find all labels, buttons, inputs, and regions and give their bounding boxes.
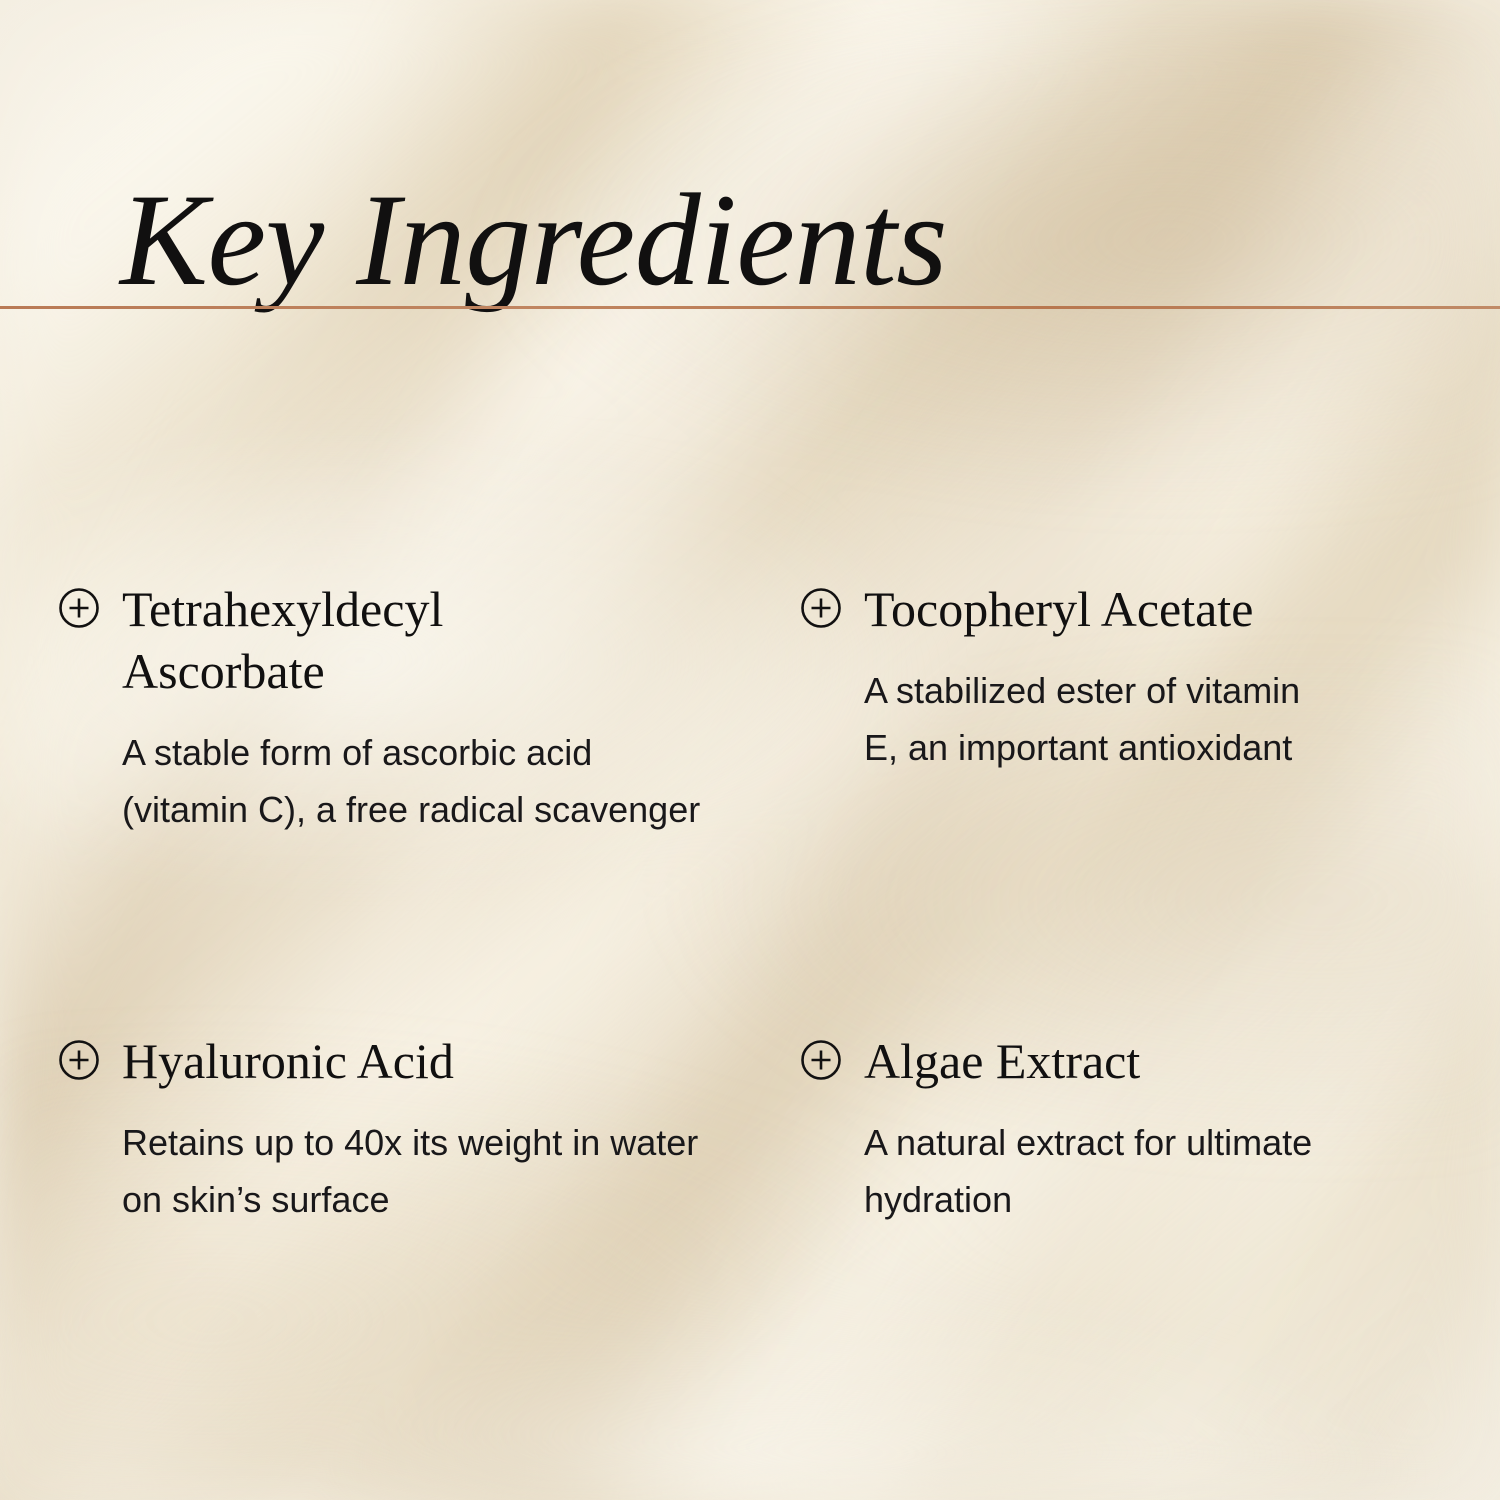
ingredient-description: A stable form of ascorbic acid (vitamin …: [122, 724, 712, 838]
ingredient-name: Tetrahexyldecyl Ascorbate: [122, 578, 542, 702]
ingredient-name: Algae Extract: [864, 1030, 1140, 1092]
ingredient-item[interactable]: Algae Extract A natural extract for ulti…: [800, 1030, 1440, 1228]
ingredient-header: Tetrahexyldecyl Ascorbate: [58, 578, 758, 702]
ingredient-name: Tocopheryl Acetate: [864, 578, 1253, 640]
circled-plus-icon: [800, 587, 842, 629]
ingredient-header: Algae Extract: [800, 1030, 1440, 1092]
ingredient-header: Hyaluronic Acid: [58, 1030, 758, 1092]
ingredients-grid: Tetrahexyldecyl Ascorbate A stable form …: [0, 0, 1500, 1500]
ingredient-description: Retains up to 40x its weight in water on…: [122, 1114, 712, 1228]
ingredient-item[interactable]: Tocopheryl Acetate A stabilized ester of…: [800, 578, 1440, 776]
ingredients-panel: Key Ingredients Tetrahexyldecyl Ascorbat…: [0, 0, 1500, 1500]
ingredient-name: Hyaluronic Acid: [122, 1030, 454, 1092]
ingredient-description: A stabilized ester of vitamin E, an impo…: [864, 662, 1334, 776]
ingredient-item[interactable]: Tetrahexyldecyl Ascorbate A stable form …: [58, 578, 758, 838]
circled-plus-icon: [58, 1039, 100, 1081]
ingredient-description: A natural extract for ultimate hydration: [864, 1114, 1334, 1228]
circled-plus-icon: [58, 587, 100, 629]
ingredient-item[interactable]: Hyaluronic Acid Retains up to 40x its we…: [58, 1030, 758, 1228]
ingredient-header: Tocopheryl Acetate: [800, 578, 1440, 640]
circled-plus-icon: [800, 1039, 842, 1081]
